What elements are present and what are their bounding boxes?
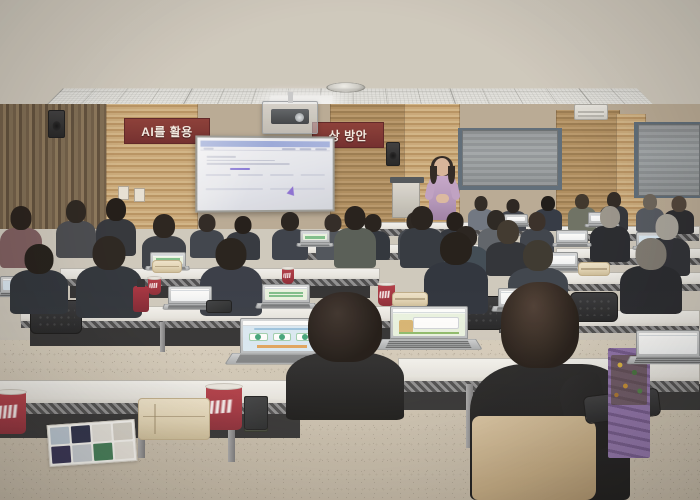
lunch-container-foreground	[138, 398, 210, 440]
wall-ac-unit	[574, 104, 608, 120]
laptop-keyboard[interactable]	[634, 358, 700, 363]
podium-top	[390, 177, 424, 183]
table-leg	[160, 322, 165, 352]
coffee-cup-foreground-left	[0, 392, 26, 434]
attendee-head	[199, 214, 216, 232]
lunch-container	[152, 260, 182, 273]
screen-header	[171, 289, 209, 291]
attendee-head	[235, 216, 252, 234]
attendee-head	[636, 238, 667, 270]
window-blind	[638, 124, 700, 196]
attendee-head	[66, 200, 86, 223]
cup-rim	[147, 276, 162, 280]
coffee-cup-foreground	[206, 386, 242, 430]
red-tumbler	[133, 286, 149, 312]
cup-script-text	[208, 399, 239, 414]
handout-thumb	[50, 427, 71, 446]
handout-thumb	[71, 425, 92, 444]
coffee-cup	[148, 278, 161, 295]
projector-lens	[295, 113, 304, 122]
attendee-head	[600, 206, 620, 228]
presenter-hands	[436, 194, 449, 203]
handout-thumb	[91, 424, 112, 443]
attendee-torso	[10, 270, 68, 314]
attendee-head	[106, 198, 126, 221]
attendee-torso	[334, 228, 376, 268]
laptop-screen	[171, 289, 209, 301]
screen-line	[305, 237, 324, 239]
laptop-screen	[639, 333, 697, 354]
attendee-head	[93, 236, 126, 270]
attendee-head	[541, 196, 555, 211]
attendee-head	[643, 194, 657, 210]
wall-speaker-right	[386, 142, 400, 166]
laptop-keyboard[interactable]	[300, 243, 330, 245]
wall-speaker-left	[48, 110, 65, 138]
attendee-head	[281, 212, 299, 231]
presenter-hair-strand	[430, 166, 437, 184]
attendee-head	[11, 206, 32, 230]
laptop-far-right-foreground[interactable]	[636, 330, 700, 372]
handout-thumb	[93, 442, 114, 461]
laptop-base[interactable]	[296, 243, 334, 247]
speaker-cone	[52, 121, 61, 131]
laptop-lid	[636, 330, 700, 357]
projector-mount	[288, 92, 293, 103]
cup-script-text	[0, 405, 24, 419]
attendee-head	[523, 240, 553, 271]
cup-script-text	[283, 273, 293, 278]
screen-doc-box	[413, 317, 459, 329]
attendee-head	[345, 206, 366, 230]
screen-glare	[197, 137, 332, 210]
attendee-head	[411, 206, 433, 230]
attendee-head	[656, 214, 679, 240]
attendee-head	[475, 196, 488, 211]
attendee-foreground-center	[286, 292, 404, 420]
cup-rim	[377, 282, 396, 286]
container-seam	[155, 266, 180, 268]
coat-on-chair	[472, 416, 596, 500]
attendee-torso	[286, 352, 404, 420]
attendee-head	[308, 292, 382, 362]
cup-rim	[281, 266, 295, 270]
ac-vent	[578, 109, 605, 117]
window-blind	[462, 130, 558, 186]
attendee-head	[153, 214, 175, 238]
laptop-base[interactable]	[625, 356, 700, 364]
screen-line	[399, 332, 460, 334]
handout-thumb	[51, 445, 72, 464]
attendee-head	[216, 238, 247, 270]
laptop-screen	[303, 233, 327, 240]
seminar-room-photo: AI를 활용 상 방안	[0, 0, 700, 500]
handout-thumb	[114, 441, 135, 460]
handout-thumb	[112, 422, 133, 441]
screen-header	[303, 233, 327, 234]
attendee	[334, 206, 376, 268]
attendee-head	[501, 282, 579, 368]
attendee	[10, 244, 68, 314]
speaker-cone	[390, 152, 397, 160]
smartphone[interactable]	[206, 300, 232, 313]
screen-header	[559, 233, 585, 234]
container-seam	[154, 404, 156, 434]
handout-thumb	[72, 444, 93, 463]
attendee-head	[575, 194, 589, 209]
cup-rim	[0, 389, 27, 395]
cup-script-text	[149, 283, 160, 289]
container-seam	[581, 268, 607, 270]
laptop[interactable]	[300, 230, 330, 250]
attendee-head	[529, 212, 546, 231]
ceiling-projector	[262, 101, 318, 134]
printed-handout	[47, 419, 138, 467]
screen-header	[639, 333, 697, 336]
screen-header	[153, 255, 183, 256]
coffee-cup	[282, 268, 294, 284]
lunch-container	[578, 262, 610, 276]
projection-screen	[195, 135, 334, 212]
screen-header	[265, 287, 307, 289]
presenter-hair-strand	[448, 166, 455, 184]
laptop-lid	[300, 230, 330, 243]
attendee-head	[672, 196, 687, 212]
blind-slats	[639, 125, 699, 195]
smartphone-foreground[interactable]	[244, 396, 268, 430]
cup-rim	[205, 383, 243, 390]
attendee-head	[440, 232, 472, 265]
container-seam	[143, 416, 205, 418]
blind-slats	[463, 131, 557, 185]
tumbler-lid[interactable]	[137, 279, 146, 287]
attendee-head	[25, 244, 54, 274]
